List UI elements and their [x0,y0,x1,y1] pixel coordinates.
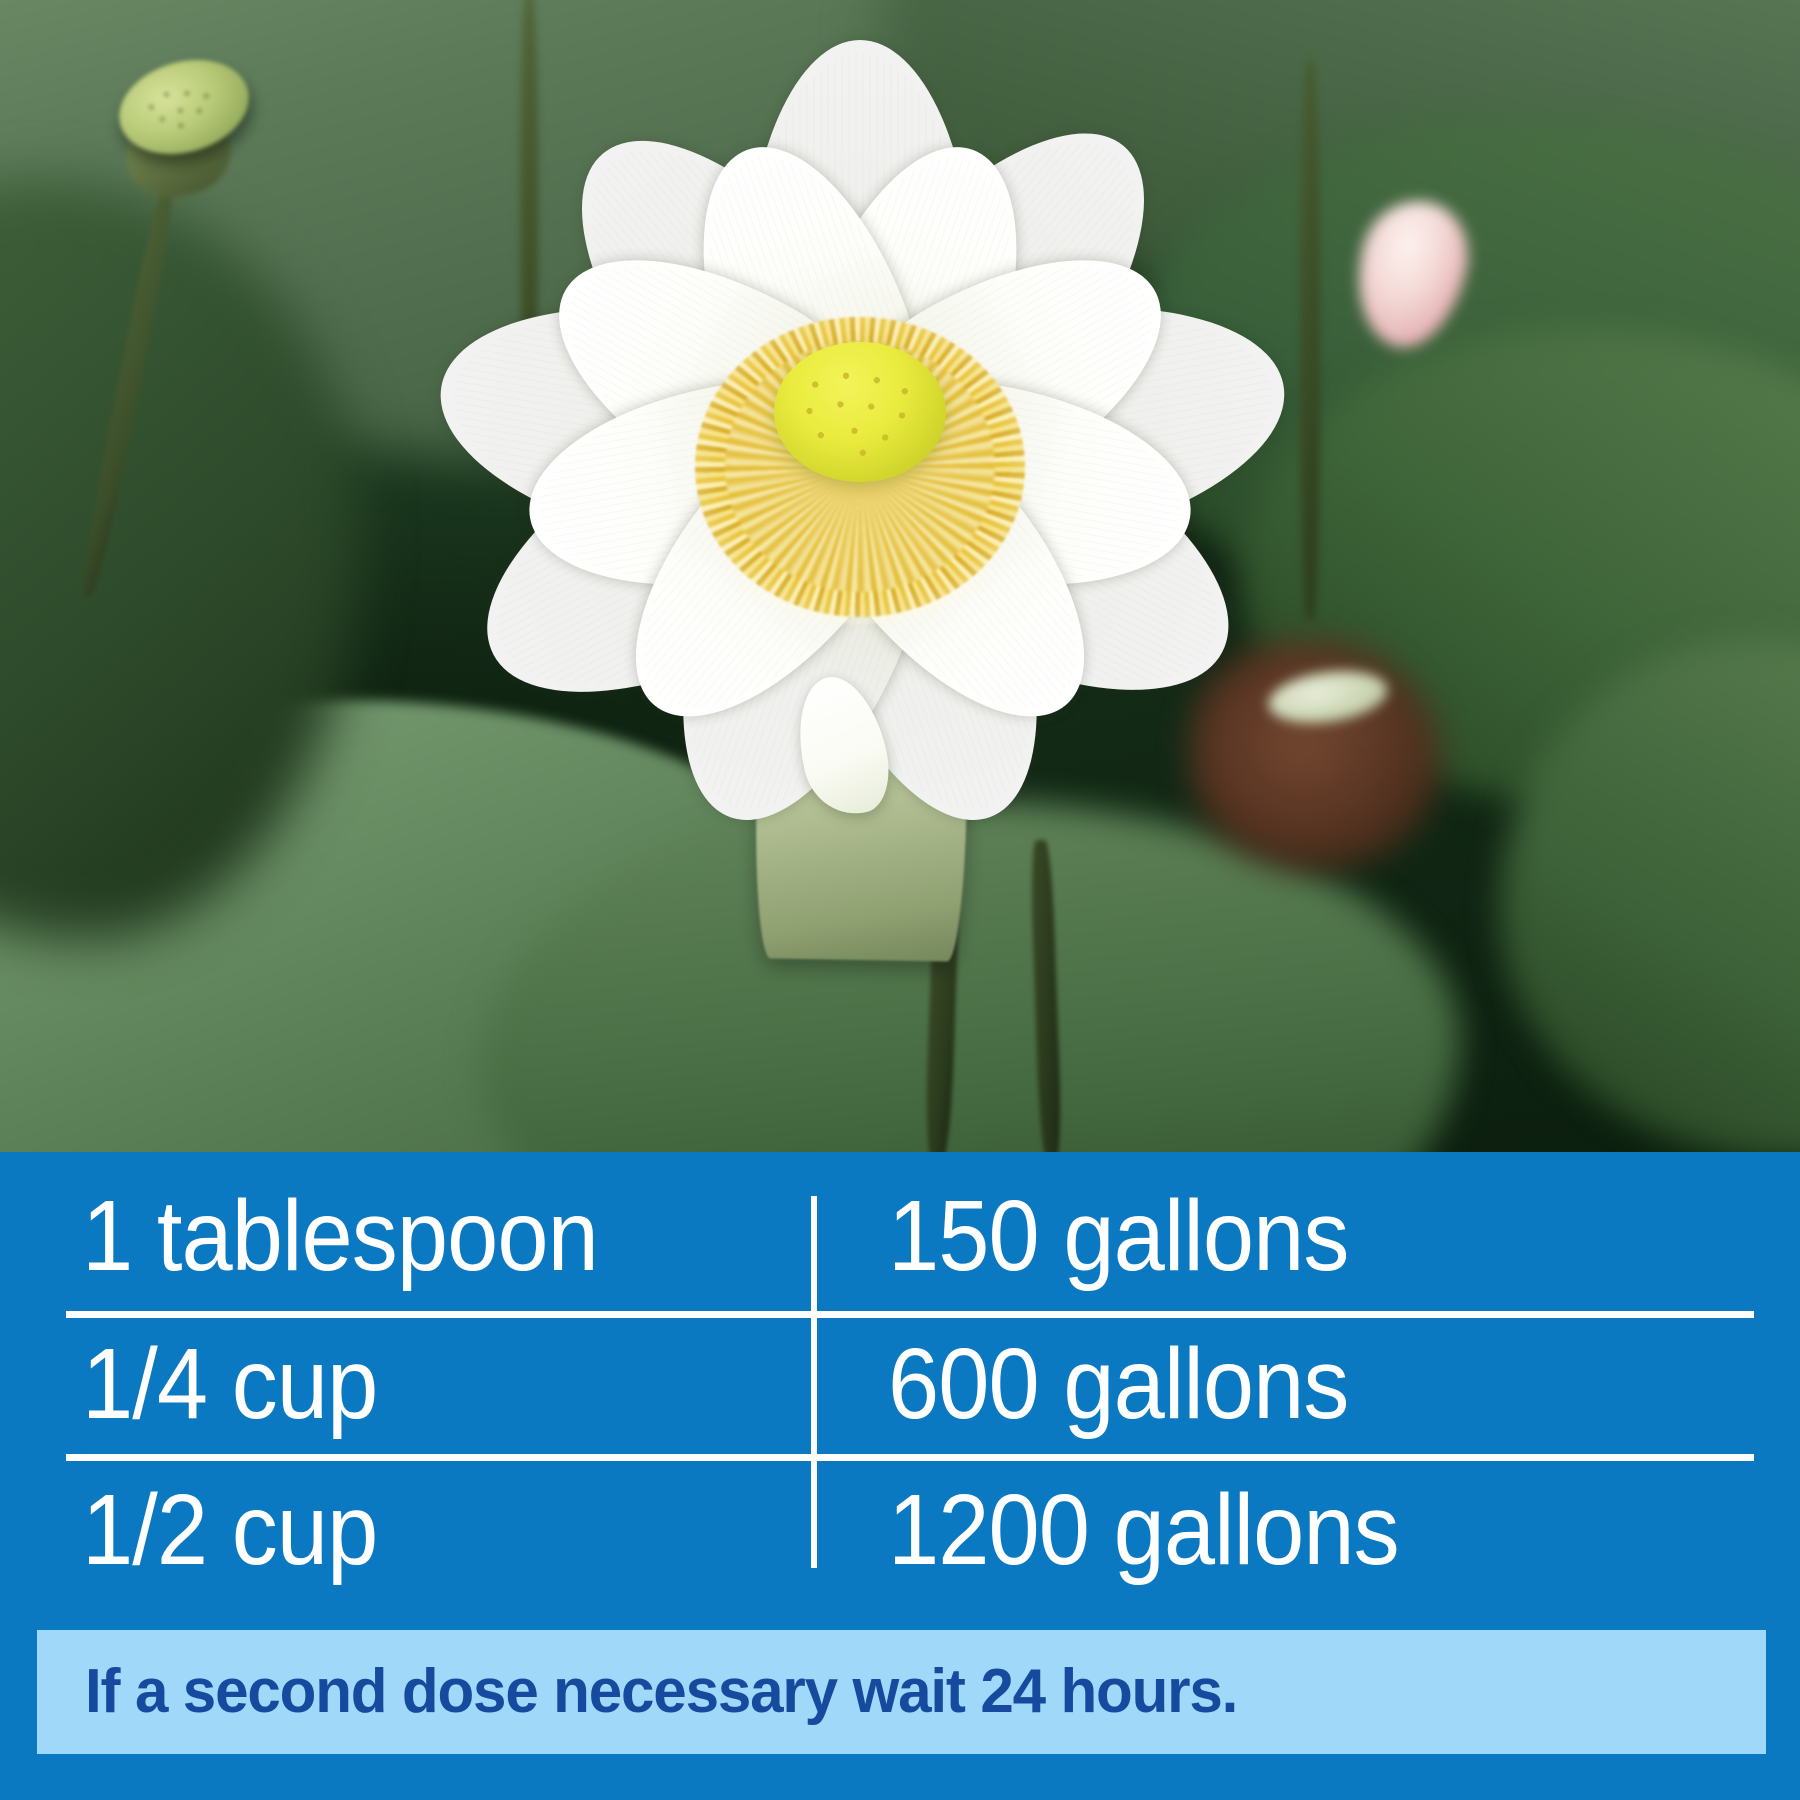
table-row: 1/2 cup 1200 gallons [0,1464,1800,1596]
lotus-photo [0,0,1800,1152]
dosage-table: 1 tablespoon 150 gallons 1/4 cup 600 gal… [0,1152,1800,1608]
table-row-divider-1 [66,1311,1754,1318]
dose-volume-2: 600 gallons [888,1334,1348,1434]
dosage-info-panel: 1 tablespoon 150 gallons 1/4 cup 600 gal… [0,1152,1800,1800]
table-row-divider-2 [66,1454,1754,1461]
lotus-flower-center [680,290,1040,630]
dosage-infographic: 1 tablespoon 150 gallons 1/4 cup 600 gal… [0,0,1800,1800]
second-dose-note-banner: If a second dose necessary wait 24 hours… [37,1630,1766,1754]
second-dose-note-text: If a second dose necessary wait 24 hours… [85,1661,1237,1723]
table-row: 1/4 cup 600 gallons [0,1320,1800,1448]
lotus-flower [360,10,1360,910]
lotus-receptacle [774,342,946,482]
dose-amount-2: 1/4 cup [82,1334,377,1434]
dose-volume-3: 1200 gallons [888,1480,1399,1580]
dose-amount-3: 1/2 cup [82,1480,377,1580]
table-row: 1 tablespoon 150 gallons [0,1166,1800,1306]
dose-amount-1: 1 tablespoon [82,1186,598,1286]
dose-volume-1: 150 gallons [888,1186,1348,1286]
